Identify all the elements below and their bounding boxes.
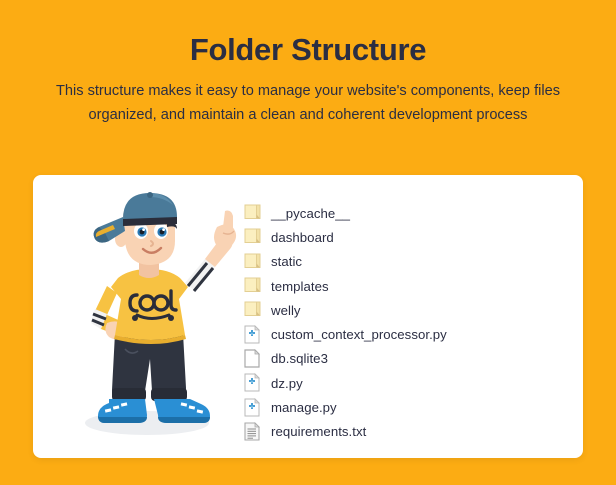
- text-file-icon: [244, 422, 261, 442]
- list-item[interactable]: dashboard: [244, 225, 564, 249]
- list-item[interactable]: dz.py: [244, 371, 564, 395]
- header: Folder Structure This structure makes it…: [0, 0, 616, 127]
- folder-icon: [244, 276, 261, 296]
- list-item[interactable]: welly: [244, 298, 564, 322]
- tshirt-icon: [111, 269, 188, 340]
- arm-pointing-icon: [185, 211, 236, 291]
- page-subtitle: This structure makes it easy to manage y…: [48, 67, 568, 127]
- list-item[interactable]: db.sqlite3: [244, 347, 564, 371]
- list-item[interactable]: requirements.txt: [244, 420, 564, 444]
- list-item[interactable]: __pycache__: [244, 201, 564, 225]
- page-title: Folder Structure: [0, 0, 616, 67]
- illustration-cartoon-boy: [55, 183, 245, 448]
- list-item[interactable]: custom_context_processor.py: [244, 322, 564, 346]
- file-list: __pycache__ dashboard static: [244, 201, 564, 444]
- file-name: templates: [271, 279, 329, 294]
- file-name: custom_context_processor.py: [271, 327, 447, 342]
- file-name: static: [271, 254, 302, 269]
- blank-file-icon: [244, 349, 261, 369]
- file-name: welly: [271, 303, 301, 318]
- file-name: dashboard: [271, 230, 334, 245]
- folder-icon: [244, 227, 261, 247]
- page-root: Folder Structure This structure makes it…: [0, 0, 616, 485]
- file-name: db.sqlite3: [271, 351, 328, 366]
- folder-icon: [244, 203, 261, 223]
- file-name: __pycache__: [271, 206, 350, 221]
- list-item[interactable]: manage.py: [244, 395, 564, 419]
- file-name: dz.py: [271, 376, 303, 391]
- file-name: manage.py: [271, 400, 337, 415]
- file-name: requirements.txt: [271, 424, 366, 439]
- python-file-icon: [244, 373, 261, 393]
- folder-structure-card: __pycache__ dashboard static: [33, 175, 583, 458]
- folder-icon: [244, 252, 261, 272]
- shoe-right-icon: [154, 399, 210, 423]
- list-item[interactable]: static: [244, 250, 564, 274]
- python-file-icon: [244, 325, 261, 345]
- python-file-icon: [244, 398, 261, 418]
- shoe-left-icon: [98, 399, 147, 423]
- folder-icon: [244, 300, 261, 320]
- list-item[interactable]: templates: [244, 274, 564, 298]
